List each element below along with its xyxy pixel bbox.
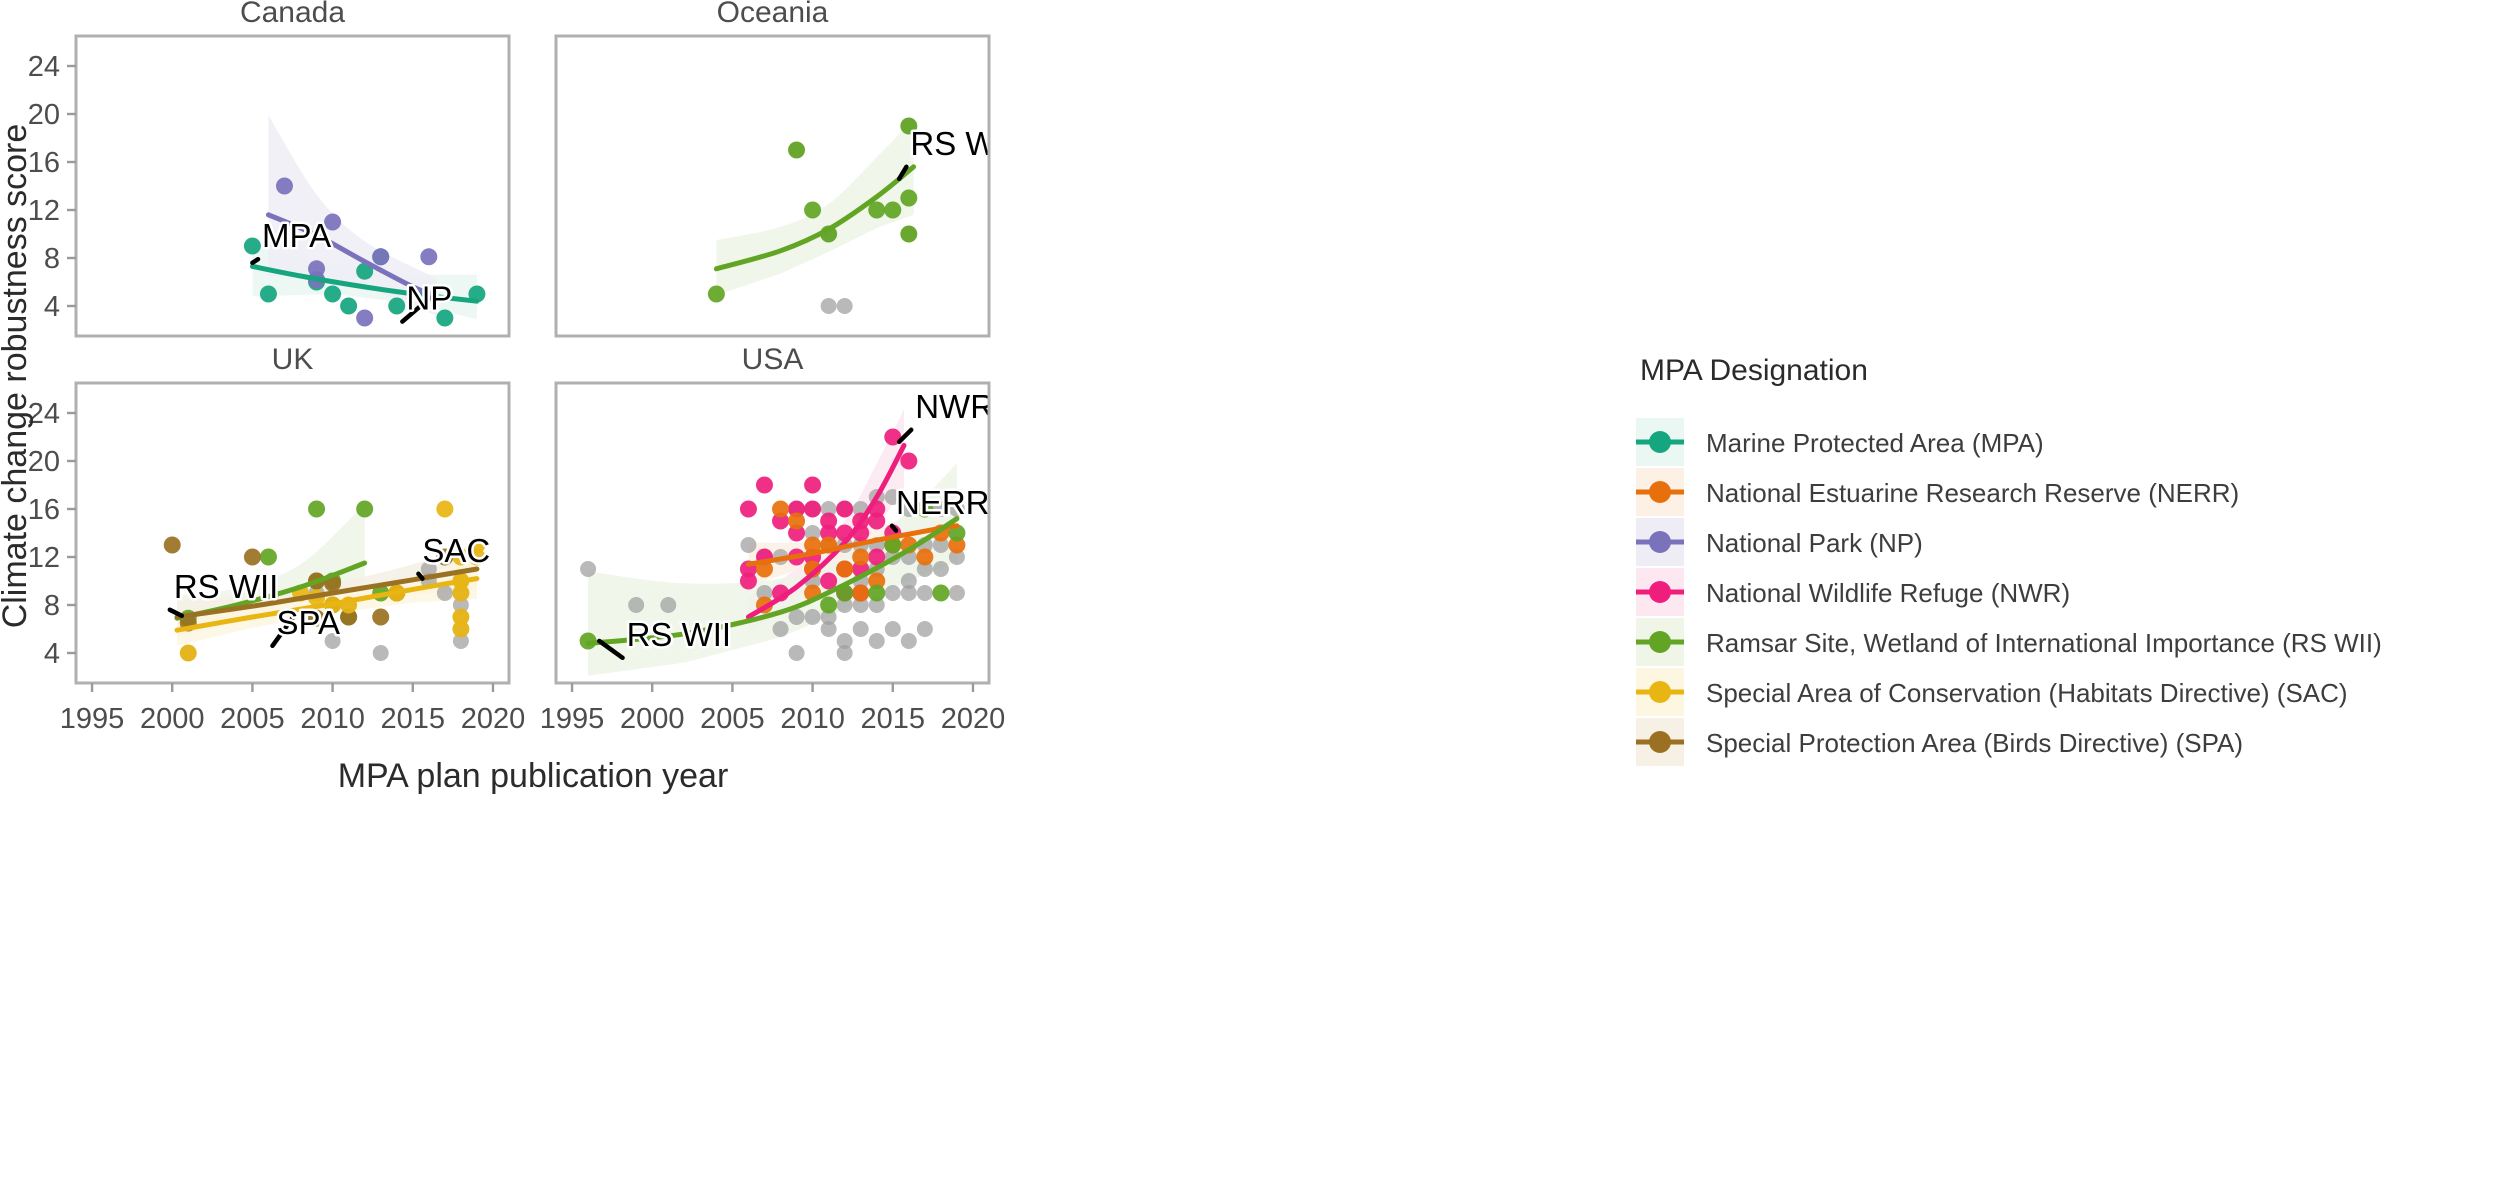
panel-title-usa: USA (742, 343, 804, 376)
data-point-rswii (820, 597, 837, 614)
legend-item-spa[interactable]: Special Protection Area (Birds Directive… (1636, 718, 2243, 766)
data-point-other (660, 597, 676, 613)
x-tick-label: 1995 (540, 703, 605, 735)
panel-canada: CanadaMPANP4812162024 (28, 0, 509, 336)
data-point-spa (244, 549, 261, 566)
data-point-rswii (708, 286, 725, 303)
legend-item-label: Special Area of Conservation (Habitats D… (1706, 678, 2348, 708)
data-point-other (901, 573, 917, 589)
data-point-rswii (884, 202, 901, 219)
data-point-other (853, 621, 869, 637)
legend-item-label: National Wildlife Refuge (NWR) (1706, 578, 2070, 608)
legend-item-rswii[interactable]: Ramsar Site, Wetland of International Im… (1636, 618, 2382, 666)
legend-key-point (1649, 531, 1671, 553)
x-tick-label: 1995 (60, 703, 125, 735)
panel-content: NWRNERRRS WII (580, 388, 994, 676)
legend-key-point (1649, 581, 1671, 603)
data-point-mpa (324, 286, 341, 303)
legend-item-nerr[interactable]: National Estuarine Research Reserve (NER… (1636, 468, 2239, 516)
panel-usa: USANWRNERRRS WII199520002005201020152020 (540, 343, 1005, 735)
x-tick-label: 2020 (941, 703, 1006, 735)
svg-text:Climate change robustness scor: Climate change robustness score (0, 124, 34, 629)
legend-item-nwr[interactable]: National Wildlife Refuge (NWR) (1636, 568, 2070, 616)
data-point-other (628, 597, 644, 613)
data-point-rswii (932, 585, 949, 602)
data-point-other (789, 645, 805, 661)
annotation-label-nwr: NWR (915, 388, 994, 425)
x-tick-label: 2015 (861, 703, 926, 735)
x-tick-label: 2010 (780, 703, 845, 735)
data-point-nerr (836, 561, 853, 578)
data-point-other (901, 633, 917, 649)
panel-content: MPANP (244, 115, 486, 326)
legend-item-label: Special Protection Area (Birds Directive… (1706, 728, 2243, 758)
data-point-other (885, 621, 901, 637)
annotation-label-sac: SAC (422, 532, 490, 569)
legend-title: MPA Designation (1640, 354, 1868, 387)
panel-content: RS WII (708, 118, 1015, 315)
legend-key-point (1649, 481, 1671, 503)
data-point-nerr (788, 513, 805, 530)
data-point-nerr (852, 549, 869, 566)
data-point-np (276, 178, 293, 195)
data-point-np (372, 248, 389, 265)
data-point-nwr (836, 501, 853, 518)
data-point-other (773, 621, 789, 637)
data-point-other (837, 298, 853, 314)
legend: MPA DesignationMarine Protected Area (MP… (1636, 354, 2382, 766)
x-tick-label: 2020 (461, 703, 526, 735)
data-point-other (869, 633, 885, 649)
x-axis-title: MPA plan publication year (338, 757, 729, 795)
data-point-mpa (388, 298, 405, 315)
annotation-leader (418, 574, 422, 579)
data-point-other (789, 609, 805, 625)
data-point-rswii (868, 585, 885, 602)
y-tick-label: 8 (44, 243, 60, 275)
data-point-other (933, 561, 949, 577)
data-point-nwr (740, 573, 757, 590)
data-point-spa (372, 609, 389, 626)
legend-key-point (1649, 631, 1671, 653)
y-tick-label: 8 (44, 590, 60, 622)
x-tick-label: 2000 (620, 703, 685, 735)
data-point-mpa (244, 238, 261, 255)
data-point-nwr (900, 453, 917, 470)
data-point-nwr (804, 477, 821, 494)
data-point-rswii (356, 501, 373, 518)
x-tick-label: 2000 (140, 703, 205, 735)
legend-item-label: Marine Protected Area (MPA) (1706, 428, 2044, 458)
data-point-other (740, 537, 756, 553)
legend-key-point (1649, 731, 1671, 753)
panel-content: RS WIISPASAC (164, 501, 491, 662)
data-point-sac (436, 501, 453, 518)
legend-item-mpa[interactable]: Marine Protected Area (MPA) (1636, 418, 2044, 466)
data-point-other (821, 621, 837, 637)
figure-root: CanadaMPANP4812162024OceaniaRS WIIUKRS W… (0, 0, 2500, 1177)
data-point-rswii (900, 190, 917, 207)
x-tick-label: 2005 (220, 703, 285, 735)
data-point-np (420, 248, 437, 265)
data-point-nerr (772, 501, 789, 518)
panel-title-oceania: Oceania (717, 0, 829, 29)
legend-item-label: National Estuarine Research Reserve (NER… (1706, 478, 2239, 508)
data-point-other (917, 585, 933, 601)
panel-title-canada: Canada (240, 0, 345, 29)
legend-item-np[interactable]: National Park (NP) (1636, 518, 1923, 566)
data-point-sac (452, 621, 469, 638)
data-point-mpa (340, 298, 357, 315)
data-point-other (917, 621, 933, 637)
data-point-rswii (308, 501, 325, 518)
panel-title-uk: UK (272, 343, 314, 376)
data-point-other (805, 609, 821, 625)
data-point-nwr (740, 501, 757, 518)
panel-uk: UKRS WIISPASAC48121620241995200020052010… (28, 343, 525, 735)
legend-item-label: National Park (NP) (1706, 528, 1923, 558)
legend-key-point (1649, 681, 1671, 703)
y-tick-label: 4 (44, 291, 60, 323)
annotation-label-mpa: MPA (262, 217, 331, 254)
annotation-label-spa: SPA (276, 604, 340, 641)
data-point-other (373, 645, 389, 661)
data-point-mpa (260, 286, 277, 303)
data-point-nerr (852, 585, 869, 602)
data-point-rswii (260, 549, 277, 566)
annotation-label-rs-wii: RS WII (627, 616, 732, 653)
data-point-sac (452, 585, 469, 602)
legend-key-point (1649, 431, 1671, 453)
legend-item-sac[interactable]: Special Area of Conservation (Habitats D… (1636, 668, 2348, 716)
data-point-rswii (900, 226, 917, 243)
annotation-label-rs-wii: RS WII (174, 568, 279, 605)
data-point-nwr (804, 501, 821, 518)
annotation-label-rs-wii: RS WII (910, 125, 1015, 162)
data-point-spa (164, 537, 181, 554)
data-point-sac (180, 645, 197, 662)
x-tick-label: 2010 (300, 703, 365, 735)
data-point-other (837, 645, 853, 661)
scatter-facet-figure: CanadaMPANP4812162024OceaniaRS WIIUKRS W… (0, 0, 2500, 1177)
legend-item-label: Ramsar Site, Wetland of International Im… (1706, 628, 2382, 658)
data-point-rswii (804, 202, 821, 219)
y-axis-title: Climate change robustness score (0, 124, 34, 629)
data-point-other (885, 585, 901, 601)
data-point-other (949, 585, 965, 601)
data-point-nerr (916, 549, 933, 566)
annotation-leader (892, 526, 896, 531)
y-tick-label: 24 (28, 51, 60, 83)
x-tick-label: 2005 (700, 703, 765, 735)
data-point-other (821, 298, 837, 314)
annotation-label-np: NP (406, 280, 452, 317)
panel-oceania: OceaniaRS WII (556, 0, 1015, 336)
data-point-np (356, 310, 373, 327)
data-point-nwr (756, 477, 773, 494)
annotation-label-nerr: NERR (896, 484, 990, 521)
y-tick-label: 4 (44, 638, 60, 670)
x-tick-label: 2015 (381, 703, 446, 735)
data-point-other (580, 561, 596, 577)
annotation-leader (252, 259, 258, 263)
data-point-rswii (788, 142, 805, 159)
